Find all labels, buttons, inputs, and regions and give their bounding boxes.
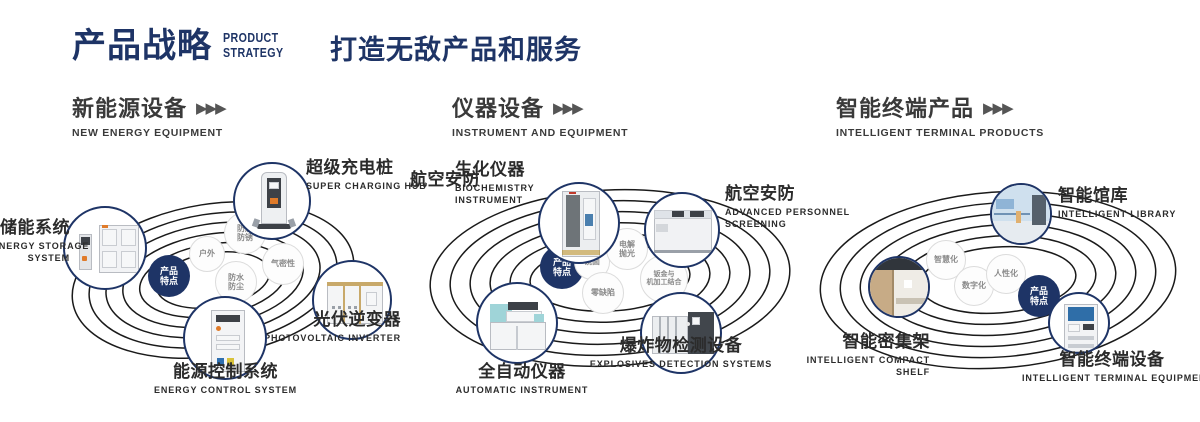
section-heading-cn-text: 仪器设备 [452, 96, 544, 122]
page-title: 产品战略 [72, 26, 212, 66]
page-title-english-line1: PRODUCT [223, 30, 284, 45]
product-strategy-infographic: 产品战略 PRODUCT STRATEGY 打造无敌产品和服务 新能源设备 ▶▶… [0, 0, 1200, 422]
section-heading-cn: 新能源设备 ▶▶▶ [72, 96, 225, 122]
section-heading-cn-text: 新能源设备 [72, 96, 187, 122]
section-heading-new-energy: 新能源设备 ▶▶▶ NEW ENERGY EQUIPMENT [72, 96, 225, 139]
node-label-en-line1: AUTOMATIC INSTRUMENT [392, 384, 652, 396]
page-title-english: PRODUCT STRATEGY [223, 30, 284, 60]
terminal-kiosk-icon [1050, 294, 1108, 352]
node-label-cn: 全自动仪器 [392, 362, 652, 382]
node-label-cn: 储能系统 [0, 218, 70, 238]
label-energy-storage-system: 储能系统 ENERGY STORAGE SYSTEM [0, 218, 70, 264]
section-heading-en: INTELLIGENT TERMINAL PRODUCTS [836, 127, 1044, 139]
node-label-en-line1: ENERGY CONTROL SYSTEM [108, 384, 343, 396]
node-label-en-line1: BIOCHEMISTRY [455, 182, 534, 194]
core-bubble-line2: 特点 [160, 276, 178, 286]
feature-bubble-label: 数字化 [962, 281, 986, 290]
section-heading-cn-text: 智能终端产品 [836, 96, 974, 122]
node-automatic-instrument[interactable] [476, 282, 558, 364]
node-label-en-line1: INTELLIGENT LIBRARY [1058, 208, 1176, 220]
feature-bubble-label-line1: 防水 [228, 273, 244, 282]
node-label-cn: 能源控制系统 [108, 362, 343, 382]
core-bubble-line2: 特点 [553, 267, 571, 277]
core-bubble-line2: 特点 [1030, 296, 1048, 306]
node-super-charging-hub[interactable] [233, 162, 311, 240]
chevron-right-triple-icon: ▶▶▶ [196, 96, 225, 122]
core-bubble-line1: 产品 [160, 266, 178, 276]
node-label-en-line2: INSTRUMENT [455, 194, 534, 206]
feature-bubble-label: 气密性 [271, 259, 295, 268]
node-label-cn: 智能终端设备 [1022, 350, 1200, 370]
core-bubble-product-features: 产品 特点 [148, 255, 190, 297]
feature-bubble-airtightness: 气密性 [262, 243, 304, 285]
chevron-right-triple-icon: ▶▶▶ [553, 96, 582, 122]
feature-bubble-label-line2: 防尘 [228, 282, 244, 291]
section-heading-intelligent-terminal: 智能终端产品 ▶▶▶ INTELLIGENT TERMINAL PRODUCTS [836, 96, 1044, 139]
node-label-en-line1: ENERGY STORAGE [0, 240, 70, 252]
node-label-en-line2: SHELF [730, 366, 930, 378]
cluster-intelligent-terminal: 智慧化 数字化 人性化 产品 特点 智能馆库 [800, 150, 1200, 400]
charging-pile-icon [235, 164, 309, 238]
feature-bubble-label-line2: 机加工结合 [647, 279, 682, 287]
label-biochemistry-instrument: 生化仪器 BIOCHEMISTRY INSTRUMENT [455, 160, 534, 206]
label-automatic-instrument: 全自动仪器 AUTOMATIC INSTRUMENT [392, 362, 652, 396]
section-heading-cn: 仪器设备 ▶▶▶ [452, 96, 628, 122]
feature-bubble-label: 智慧化 [934, 255, 958, 264]
cluster-new-energy: 产品 特点 户外 防腐 防锈 防水 防尘 气密性 [0, 150, 420, 395]
page-subtitle: 打造无敌产品和服务 [330, 33, 582, 67]
feature-bubble-outdoor: 户外 [189, 236, 225, 272]
page-title-english-line2: STRATEGY [223, 45, 284, 60]
label-energy-control-system: 能源控制系统 ENERGY CONTROL SYSTEM [108, 362, 343, 396]
page-header: 产品战略 PRODUCT STRATEGY [72, 26, 297, 66]
feature-bubble-label-line1: 电解 [619, 240, 635, 249]
feature-bubble-zero-defect: 零缺陷 [582, 272, 624, 314]
node-label-en-line1: INTELLIGENT COMPACT [730, 354, 930, 366]
node-advanced-personnel-screening[interactable] [644, 192, 720, 268]
library-interior-icon [992, 185, 1050, 243]
node-label-cn: 智能馆库 [1058, 186, 1176, 206]
node-label-en-line1: INTELLIGENT TERMINAL EQUIPMENT [1022, 372, 1200, 384]
node-intelligent-compact-shelf[interactable] [868, 256, 930, 318]
node-intelligent-library[interactable] [990, 183, 1052, 245]
node-label-cn: 生化仪器 [455, 160, 534, 180]
section-heading-cn: 智能终端产品 ▶▶▶ [836, 96, 1044, 122]
feature-bubble-label-line2: 抛光 [619, 249, 635, 258]
compact-shelf-icon [870, 258, 928, 316]
feature-bubble-label: 零缺陷 [591, 288, 615, 297]
biochemistry-scanner-icon [540, 184, 618, 262]
chevron-right-triple-icon: ▶▶▶ [983, 96, 1012, 122]
feature-bubble-label: 人性化 [994, 269, 1018, 278]
section-heading-en: INSTRUMENT AND EQUIPMENT [452, 127, 628, 139]
node-label-en-line2: SYSTEM [0, 252, 70, 264]
section-heading-en: NEW ENERGY EQUIPMENT [72, 127, 225, 139]
node-label-cn: 智能密集架 [730, 332, 930, 352]
automatic-instrument-icon [478, 284, 556, 362]
core-bubble-line1: 产品 [1030, 286, 1048, 296]
label-intelligent-library: 智能馆库 INTELLIGENT LIBRARY [1058, 186, 1176, 220]
label-intelligent-compact-shelf: 智能密集架 INTELLIGENT COMPACT SHELF [730, 332, 930, 378]
label-intelligent-terminal-equipment: 智能终端设备 INTELLIGENT TERMINAL EQUIPMENT [1022, 350, 1200, 384]
screening-machine-icon [646, 194, 718, 266]
node-biochemistry-instrument[interactable] [538, 182, 620, 264]
feature-bubble-label-line1: 钣金与 [647, 271, 682, 279]
feature-bubble-label: 户外 [199, 249, 215, 258]
section-heading-instrument: 仪器设备 ▶▶▶ INSTRUMENT AND EQUIPMENT [452, 96, 628, 139]
node-intelligent-terminal-equipment[interactable] [1048, 292, 1110, 354]
